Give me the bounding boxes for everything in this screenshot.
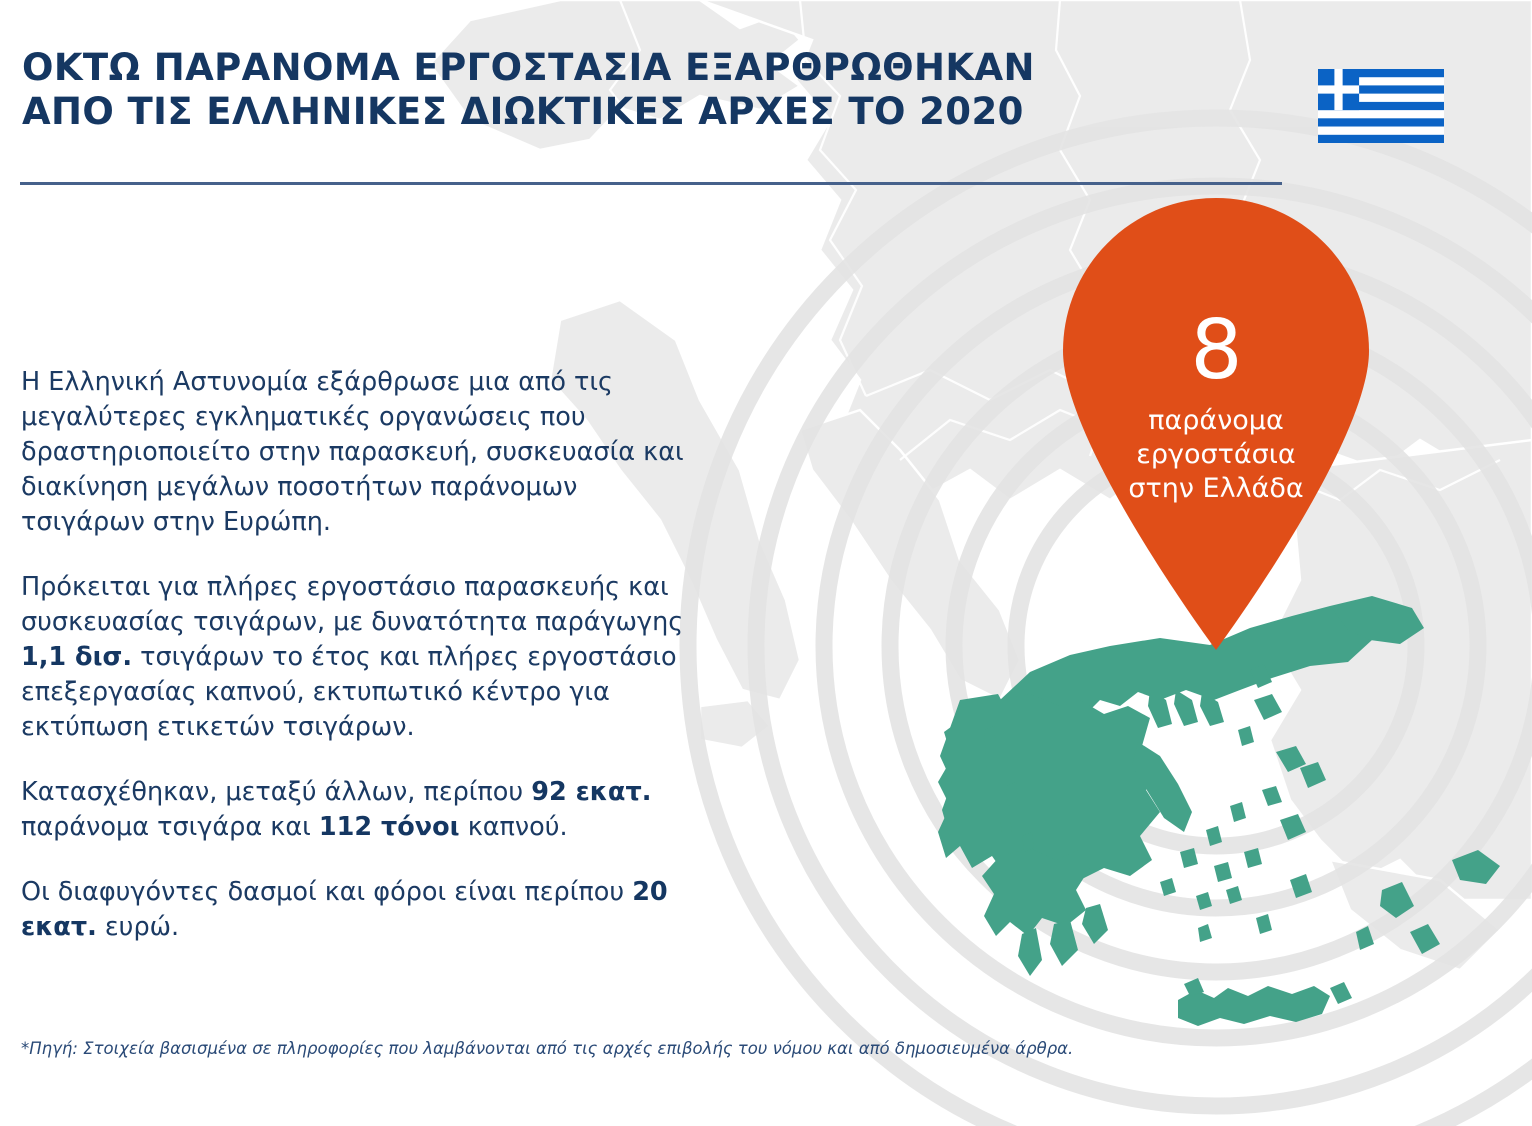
source-footnote: *Πηγή: Στοιχεία βασισμένα σε πληροφορίες…: [21, 1038, 1421, 1060]
page-title: ΟΚΤΩ ΠΑΡΑΝΟΜΑ ΕΡΓΟΣΤΑΣΙΑ ΕΞΑΡΘΡΩΘΗΚΑΝ ΑΠ…: [22, 46, 1082, 134]
p3-part-a: Κατασχέθηκαν, μεταξύ άλλων, περίπου: [21, 777, 531, 807]
p3-highlight-1: 92 εκατ.: [531, 777, 651, 807]
paragraph-2: Πρόκειται για πλήρες εργοστάσιο παρασκευ…: [21, 570, 701, 745]
body-copy: Η Ελληνική Αστυνομία εξάρθρωσε μια από τ…: [21, 365, 701, 945]
map-pin-shape: [1063, 198, 1369, 650]
paragraph-3: Κατασχέθηκαν, μεταξύ άλλων, περίπου 92 ε…: [21, 775, 701, 845]
p3-part-c: παράνομα τσιγάρα και: [21, 812, 319, 842]
p3-part-e: καπνού.: [460, 812, 568, 842]
paragraph-4: Οι διαφυγόντες δασμοί και φόροι είναι πε…: [21, 875, 701, 945]
p2-highlight: 1,1 δισ.: [21, 642, 132, 672]
paragraph-1: Η Ελληνική Αστυνομία εξάρθρωσε μια από τ…: [21, 365, 701, 540]
title-line-1: ΟΚΤΩ ΠΑΡΑΝΟΜΑ ΕΡΓΟΣΤΑΣΙΑ ΕΞΑΡΘΡΩΘΗΚΑΝ: [22, 46, 1082, 90]
p4-part-c: ευρώ.: [97, 912, 179, 942]
infographic-canvas: ΟΚΤΩ ΠΑΡΑΝΟΜΑ ΕΡΓΟΣΤΑΣΙΑ ΕΞΑΡΘΡΩΘΗΚΑΝ ΑΠ…: [0, 0, 1532, 1126]
p3-highlight-2: 112 τόνοι: [319, 812, 460, 842]
p4-part-a: Οι διαφυγόντες δασμοί και φόροι είναι πε…: [21, 877, 632, 907]
greek-flag-svg: [1318, 69, 1444, 143]
greek-flag-icon: [1318, 69, 1444, 143]
p2-part-a: Πρόκειται για πλήρες εργοστάσιο παρασκευ…: [21, 572, 683, 637]
title-line-2: ΑΠΟ ΤΙΣ ΕΛΛΗΝΙΚΕΣ ΔΙΩΚΤΙΚΕΣ ΑΡΧΕΣ ΤΟ 202…: [22, 90, 1082, 134]
title-divider: [20, 182, 1282, 185]
map-pin-icon: 8 παράνομα εργοστάσια στην Ελλάδα: [1063, 198, 1369, 650]
